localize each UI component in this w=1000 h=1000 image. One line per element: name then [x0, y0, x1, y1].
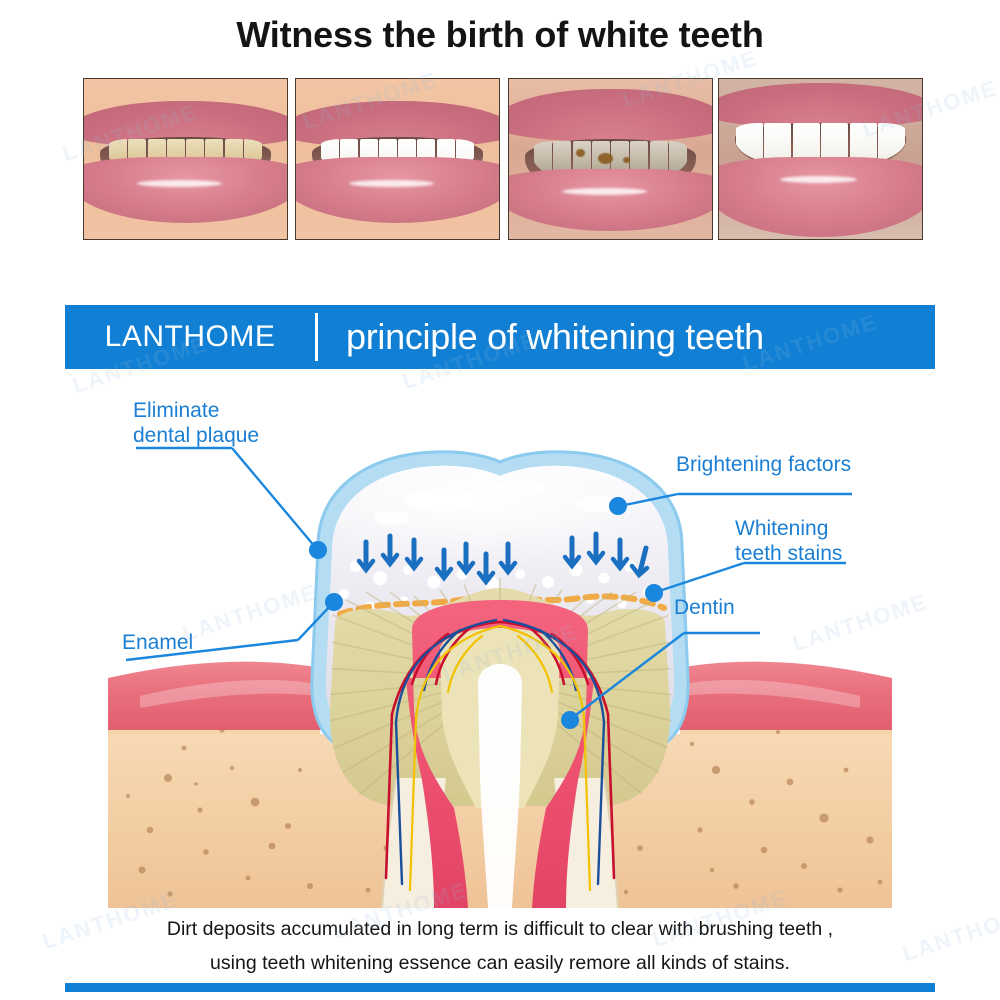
lower-lip [295, 157, 500, 223]
bottom-accent-bar [65, 983, 935, 992]
lip-highlight [137, 180, 222, 187]
dot-enamel [325, 593, 343, 611]
caption-line-1: Dirt deposits accumulated in long term i… [167, 918, 833, 940]
upper-lip [508, 89, 713, 141]
dot-dentin [561, 711, 579, 729]
banner-heading: principle of whitening teeth [318, 316, 935, 358]
lip-highlight [349, 180, 434, 187]
caption-line-2: using teeth whitening essence can easily… [0, 946, 1000, 980]
label-eliminate-dental-plaque: Eliminate dental plaque [133, 398, 259, 448]
dot-brightening [609, 497, 627, 515]
lower-lip [718, 157, 923, 237]
photo-before-tartar-teeth [508, 78, 713, 240]
label-brightening-factors: Brightening factors [676, 452, 851, 477]
brand-banner: LANTHOME principle of whitening teeth [65, 305, 935, 369]
leader-eliminate [232, 448, 316, 548]
photo-before-yellow-teeth [83, 78, 288, 240]
banner-brand-name: LANTHOME [65, 320, 315, 354]
label-whitening-line1: Whitening [735, 516, 842, 541]
lip-highlight [780, 176, 857, 183]
photo-after-clean-teeth [718, 78, 923, 240]
decay-spot [623, 157, 630, 163]
label-enamel: Enamel [122, 630, 193, 655]
photo-comparison-row [83, 78, 928, 240]
lower-lip [508, 169, 713, 231]
dot-stains [645, 584, 663, 602]
label-eliminate-line2: dental plaque [133, 423, 259, 448]
label-eliminate-line1: Eliminate [133, 398, 259, 423]
upper-lip [718, 83, 923, 127]
label-whitening-line2: teeth stains [735, 541, 842, 566]
decay-spot [576, 149, 585, 157]
lower-lip [83, 157, 288, 223]
label-whitening-teeth-stains: Whitening teeth stains [735, 516, 842, 566]
lip-highlight [562, 188, 647, 195]
photo-after-white-teeth [295, 78, 500, 240]
bottom-caption: Dirt deposits accumulated in long term i… [0, 912, 1000, 980]
dot-eliminate [309, 541, 327, 559]
label-dentin: Dentin [674, 595, 735, 620]
page-title: Witness the birth of white teeth [0, 14, 1000, 56]
